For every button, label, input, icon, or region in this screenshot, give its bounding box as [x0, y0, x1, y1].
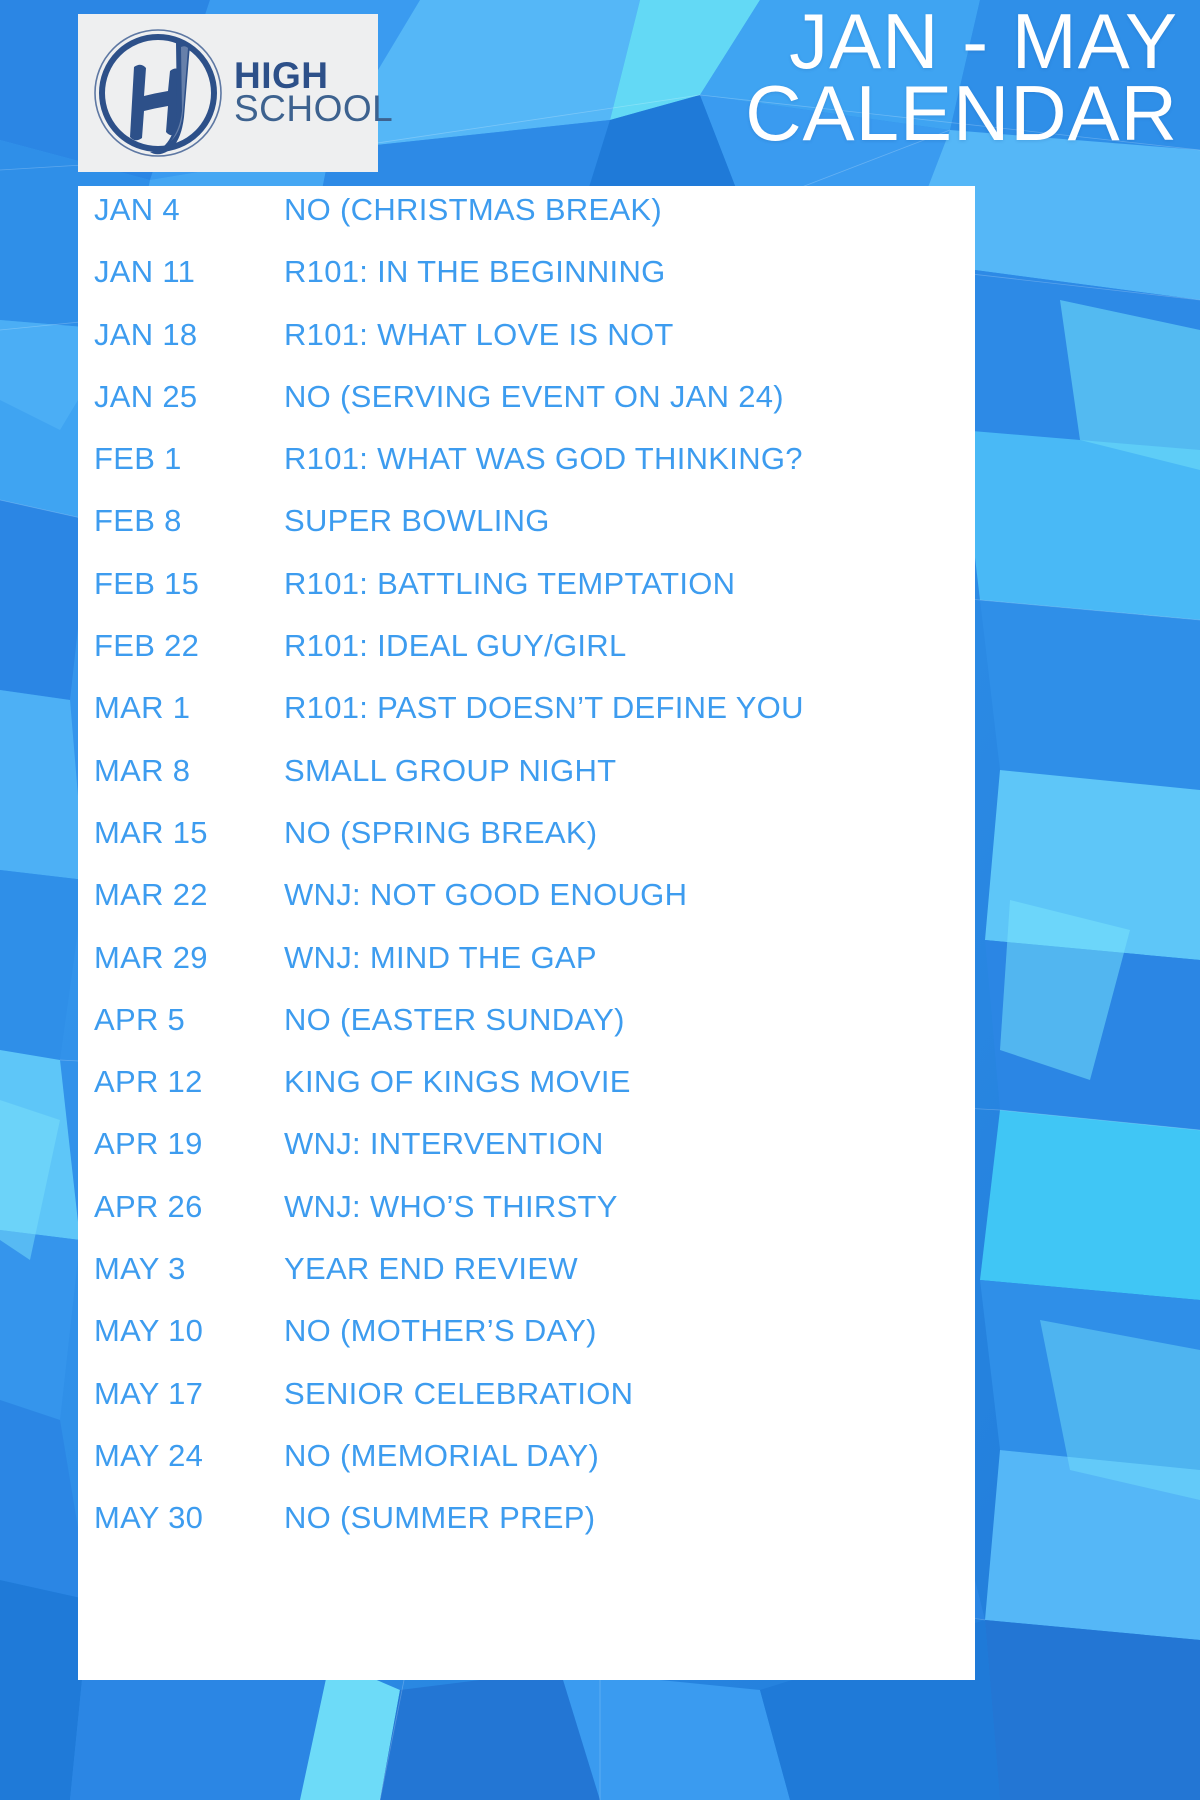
calendar-poster: HIGH SCHOOL JAN - MAY CALENDAR JAN 4NO (…: [0, 0, 1200, 1800]
logo-word-school: SCHOOL: [234, 93, 393, 126]
calendar-row: MAR 22WNJ: NOT GOOD ENOUGH: [94, 877, 975, 939]
calendar-row-event: SUPER BOWLING: [284, 503, 550, 539]
calendar-row-date: MAY 3: [94, 1251, 284, 1287]
calendar-row-date: MAY 17: [94, 1376, 284, 1412]
calendar-row-event: R101: IDEAL GUY/GIRL: [284, 628, 627, 664]
calendar-row: MAR 15NO (SPRING BREAK): [94, 815, 975, 877]
calendar-row: APR 19WNJ: INTERVENTION: [94, 1126, 975, 1188]
calendar-row-date: JAN 25: [94, 379, 284, 415]
calendar-row-date: APR 5: [94, 1002, 284, 1038]
calendar-row: FEB 1R101: WHAT WAS GOD THINKING?: [94, 441, 975, 503]
calendar-row: MAR 29WNJ: MIND THE GAP: [94, 940, 975, 1002]
calendar-row-event: SMALL GROUP NIGHT: [284, 753, 616, 789]
calendar-row: MAY 24NO (MEMORIAL DAY): [94, 1438, 975, 1500]
calendar-row-event: R101: BATTLING TEMPTATION: [284, 566, 735, 602]
calendar-row-date: FEB 1: [94, 441, 284, 477]
calendar-row: JAN 11R101: IN THE BEGINNING: [94, 254, 975, 316]
calendar-row-event: NO (CHRISTMAS BREAK): [284, 192, 662, 228]
title-line-1: JAN - MAY: [558, 6, 1178, 78]
calendar-row-event: KING OF KINGS MOVIE: [284, 1064, 631, 1100]
calendar-row-date: MAR 8: [94, 753, 284, 789]
calendar-row: JAN 25NO (SERVING EVENT ON JAN 24): [94, 379, 975, 441]
calendar-rows: JAN 4NO (CHRISTMAS BREAK)JAN 11R101: IN …: [94, 192, 975, 1680]
title-line-2: CALENDAR: [558, 78, 1178, 150]
page-title: JAN - MAY CALENDAR: [558, 6, 1178, 150]
calendar-row-date: JAN 4: [94, 192, 284, 228]
calendar-row: MAR 8SMALL GROUP NIGHT: [94, 753, 975, 815]
calendar-row-date: MAR 22: [94, 877, 284, 913]
calendar-row-date: MAR 29: [94, 940, 284, 976]
calendar-row: FEB 15R101: BATTLING TEMPTATION: [94, 566, 975, 628]
calendar-row-date: FEB 15: [94, 566, 284, 602]
calendar-row: MAY 17SENIOR CELEBRATION: [94, 1376, 975, 1438]
calendar-row: FEB 8SUPER BOWLING: [94, 503, 975, 565]
logo-wordmark: HIGH SCHOOL: [234, 60, 393, 125]
calendar-row-date: FEB 22: [94, 628, 284, 664]
calendar-row-date: JAN 18: [94, 317, 284, 353]
calendar-row-event: R101: PAST DOESN’T DEFINE YOU: [284, 690, 804, 726]
calendar-row: APR 26WNJ: WHO’S THIRSTY: [94, 1189, 975, 1251]
calendar-row: JAN 18R101: WHAT LOVE IS NOT: [94, 317, 975, 379]
calendar-row-event: NO (MOTHER’S DAY): [284, 1313, 597, 1349]
brush-h-circle-logo-icon: [88, 23, 228, 163]
calendar-row-event: SENIOR CELEBRATION: [284, 1376, 633, 1412]
calendar-row-event: WNJ: MIND THE GAP: [284, 940, 597, 976]
calendar-row-event: YEAR END REVIEW: [284, 1251, 578, 1287]
calendar-row-date: APR 12: [94, 1064, 284, 1100]
calendar-row-date: MAR 15: [94, 815, 284, 851]
calendar-row: MAY 10NO (MOTHER’S DAY): [94, 1313, 975, 1375]
calendar-row-date: FEB 8: [94, 503, 284, 539]
calendar-row-date: MAR 1: [94, 690, 284, 726]
calendar-row-date: MAY 24: [94, 1438, 284, 1474]
calendar-row-event: WNJ: NOT GOOD ENOUGH: [284, 877, 687, 913]
calendar-row-event: NO (MEMORIAL DAY): [284, 1438, 599, 1474]
school-logo: HIGH SCHOOL: [78, 14, 378, 172]
calendar-row-event: R101: WHAT WAS GOD THINKING?: [284, 441, 803, 477]
calendar-row-event: WNJ: WHO’S THIRSTY: [284, 1189, 618, 1225]
calendar-row-event: NO (SPRING BREAK): [284, 815, 597, 851]
calendar-row: APR 5NO (EASTER SUNDAY): [94, 1002, 975, 1064]
calendar-row-event: NO (SUMMER PREP): [284, 1500, 595, 1536]
calendar-row-date: APR 26: [94, 1189, 284, 1225]
calendar-row: MAY 30NO (SUMMER PREP): [94, 1500, 975, 1562]
calendar-row-event: NO (SERVING EVENT ON JAN 24): [284, 379, 784, 415]
calendar-row-date: MAY 10: [94, 1313, 284, 1349]
calendar-row-event: NO (EASTER SUNDAY): [284, 1002, 625, 1038]
calendar-panel: JAN 4NO (CHRISTMAS BREAK)JAN 11R101: IN …: [78, 186, 975, 1680]
calendar-row-event: R101: WHAT LOVE IS NOT: [284, 317, 674, 353]
calendar-row: MAY 3YEAR END REVIEW: [94, 1251, 975, 1313]
calendar-row: FEB 22R101: IDEAL GUY/GIRL: [94, 628, 975, 690]
calendar-row: APR 12KING OF KINGS MOVIE: [94, 1064, 975, 1126]
calendar-row-date: MAY 30: [94, 1500, 284, 1536]
calendar-row: JAN 4NO (CHRISTMAS BREAK): [94, 192, 975, 254]
calendar-row: MAR 1R101: PAST DOESN’T DEFINE YOU: [94, 690, 975, 752]
calendar-row-event: WNJ: INTERVENTION: [284, 1126, 604, 1162]
calendar-row-event: R101: IN THE BEGINNING: [284, 254, 666, 290]
calendar-row-date: APR 19: [94, 1126, 284, 1162]
calendar-row-date: JAN 11: [94, 254, 284, 290]
